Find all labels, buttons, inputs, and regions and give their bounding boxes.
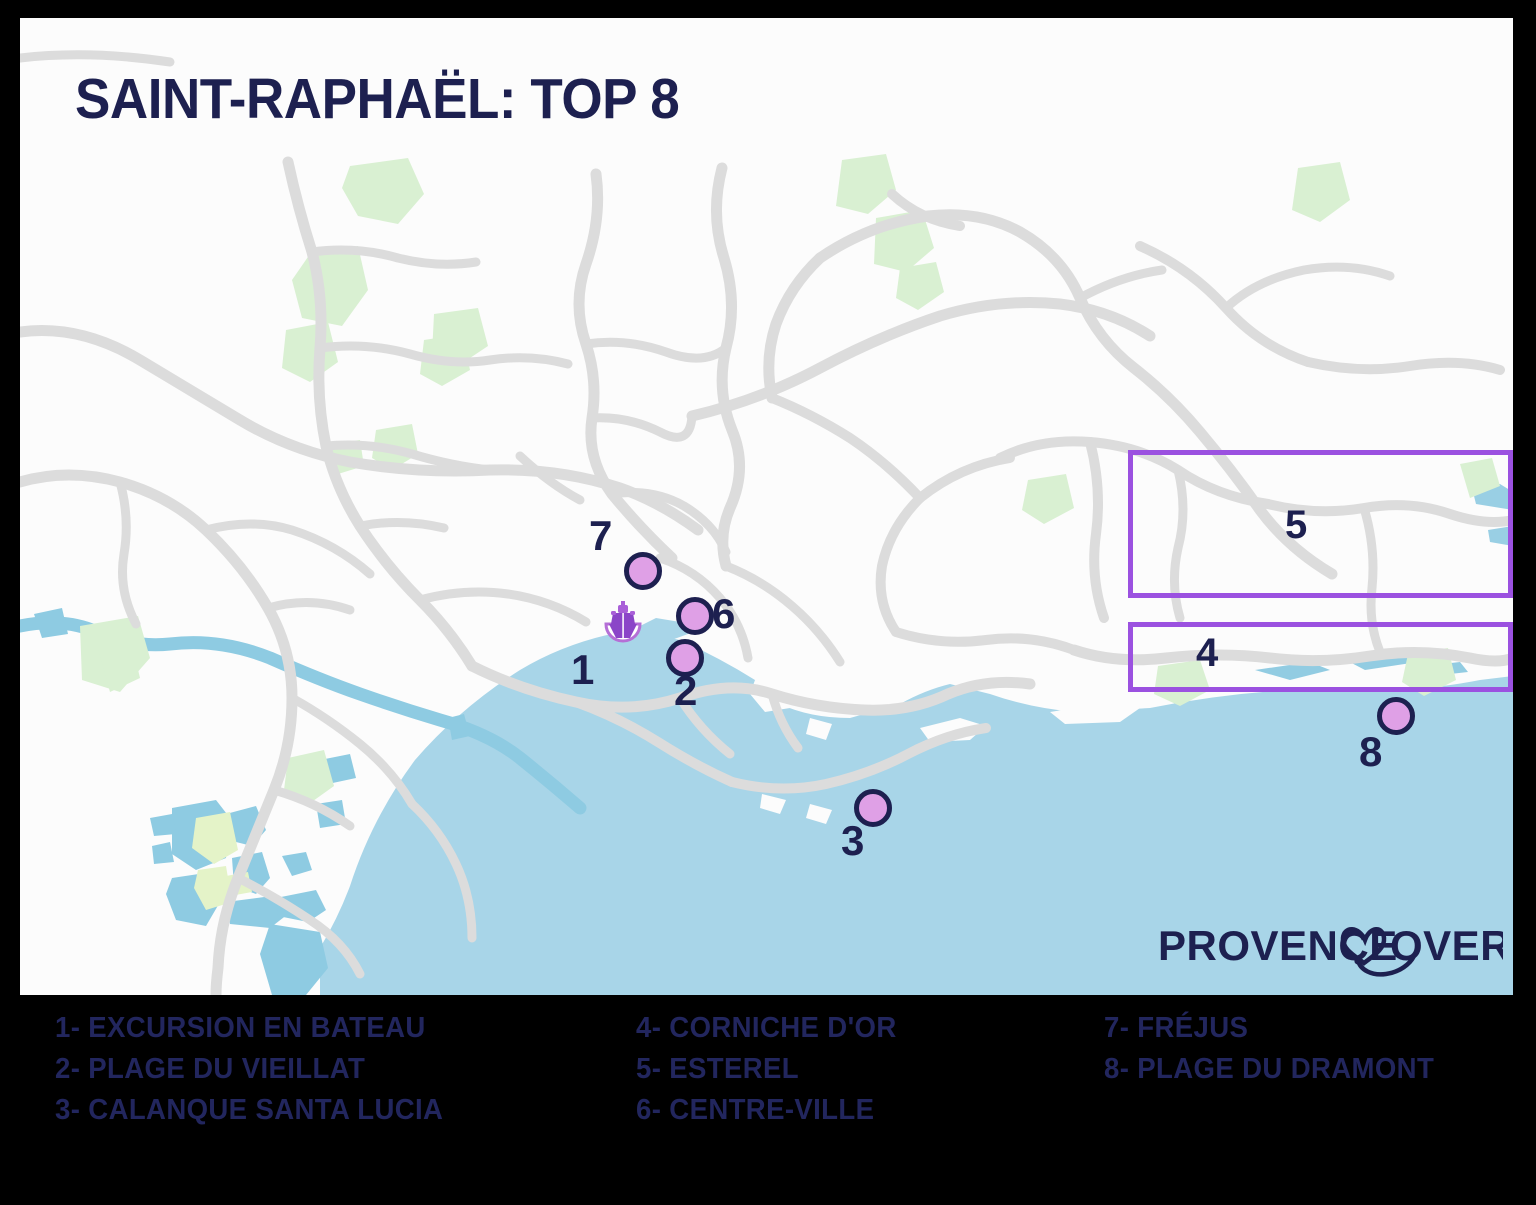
legend-item-5[interactable]: 5- ESTEREL (636, 1049, 897, 1090)
provence-lovers-logo[interactable]: PROVENCE OVERS (1158, 916, 1503, 978)
map-marker-label-3: 3 (841, 820, 864, 862)
map-marker-7[interactable] (624, 552, 662, 590)
legend-column-2: 4- CORNICHE D'OR 5- ESTEREL 6- CENTRE-VI… (636, 1008, 910, 1131)
map-marker-label-2: 2 (674, 670, 697, 712)
legend-item-6[interactable]: 6- CENTRE-VILLE (636, 1090, 897, 1131)
legend-item-2[interactable]: 2- PLAGE DU VIEILLAT (55, 1049, 443, 1090)
page-title: SAINT-RAPHAËL: TOP 8 (75, 66, 679, 132)
map-marker-label-1: 1 (571, 649, 594, 691)
map-marker-6[interactable] (676, 597, 714, 635)
area-rectangle-4[interactable] (1128, 622, 1513, 692)
logo-text-right: OVERS (1390, 922, 1503, 969)
legend: 1- EXCURSION EN BATEAU 2- PLAGE DU VIEIL… (0, 1000, 1536, 1205)
area-rectangle-5[interactable] (1128, 450, 1513, 598)
map-marker-label-7: 7 (589, 515, 612, 557)
map-marker-label-6: 6 (712, 593, 735, 635)
map-infographic: SAINT-RAPHAËL: TOP 8 5 4 7 6 2 3 8 (0, 0, 1536, 1205)
legend-column-1: 1- EXCURSION EN BATEAU 2- PLAGE DU VIEIL… (55, 1008, 464, 1131)
map-marker-8[interactable] (1377, 697, 1415, 735)
boat-icon[interactable] (600, 600, 646, 646)
legend-item-7[interactable]: 7- FRÉJUS (1104, 1008, 1434, 1049)
legend-item-3[interactable]: 3- CALANQUE SANTA LUCIA (55, 1090, 443, 1131)
legend-column-3: 7- FRÉJUS 8- PLAGE DU DRAMONT (1104, 1008, 1452, 1090)
legend-item-4[interactable]: 4- CORNICHE D'OR (636, 1008, 897, 1049)
map-marker-label-8: 8 (1359, 731, 1382, 773)
map-canvas[interactable]: SAINT-RAPHAËL: TOP 8 5 4 7 6 2 3 8 (20, 18, 1513, 995)
boat-icon-glyph (600, 600, 646, 646)
logo-glyph: PROVENCE OVERS (1158, 916, 1503, 978)
area-label-4: 4 (1196, 633, 1218, 673)
area-label-5: 5 (1285, 505, 1307, 545)
legend-item-8[interactable]: 8- PLAGE DU DRAMONT (1104, 1049, 1434, 1090)
legend-item-1[interactable]: 1- EXCURSION EN BATEAU (55, 1008, 443, 1049)
